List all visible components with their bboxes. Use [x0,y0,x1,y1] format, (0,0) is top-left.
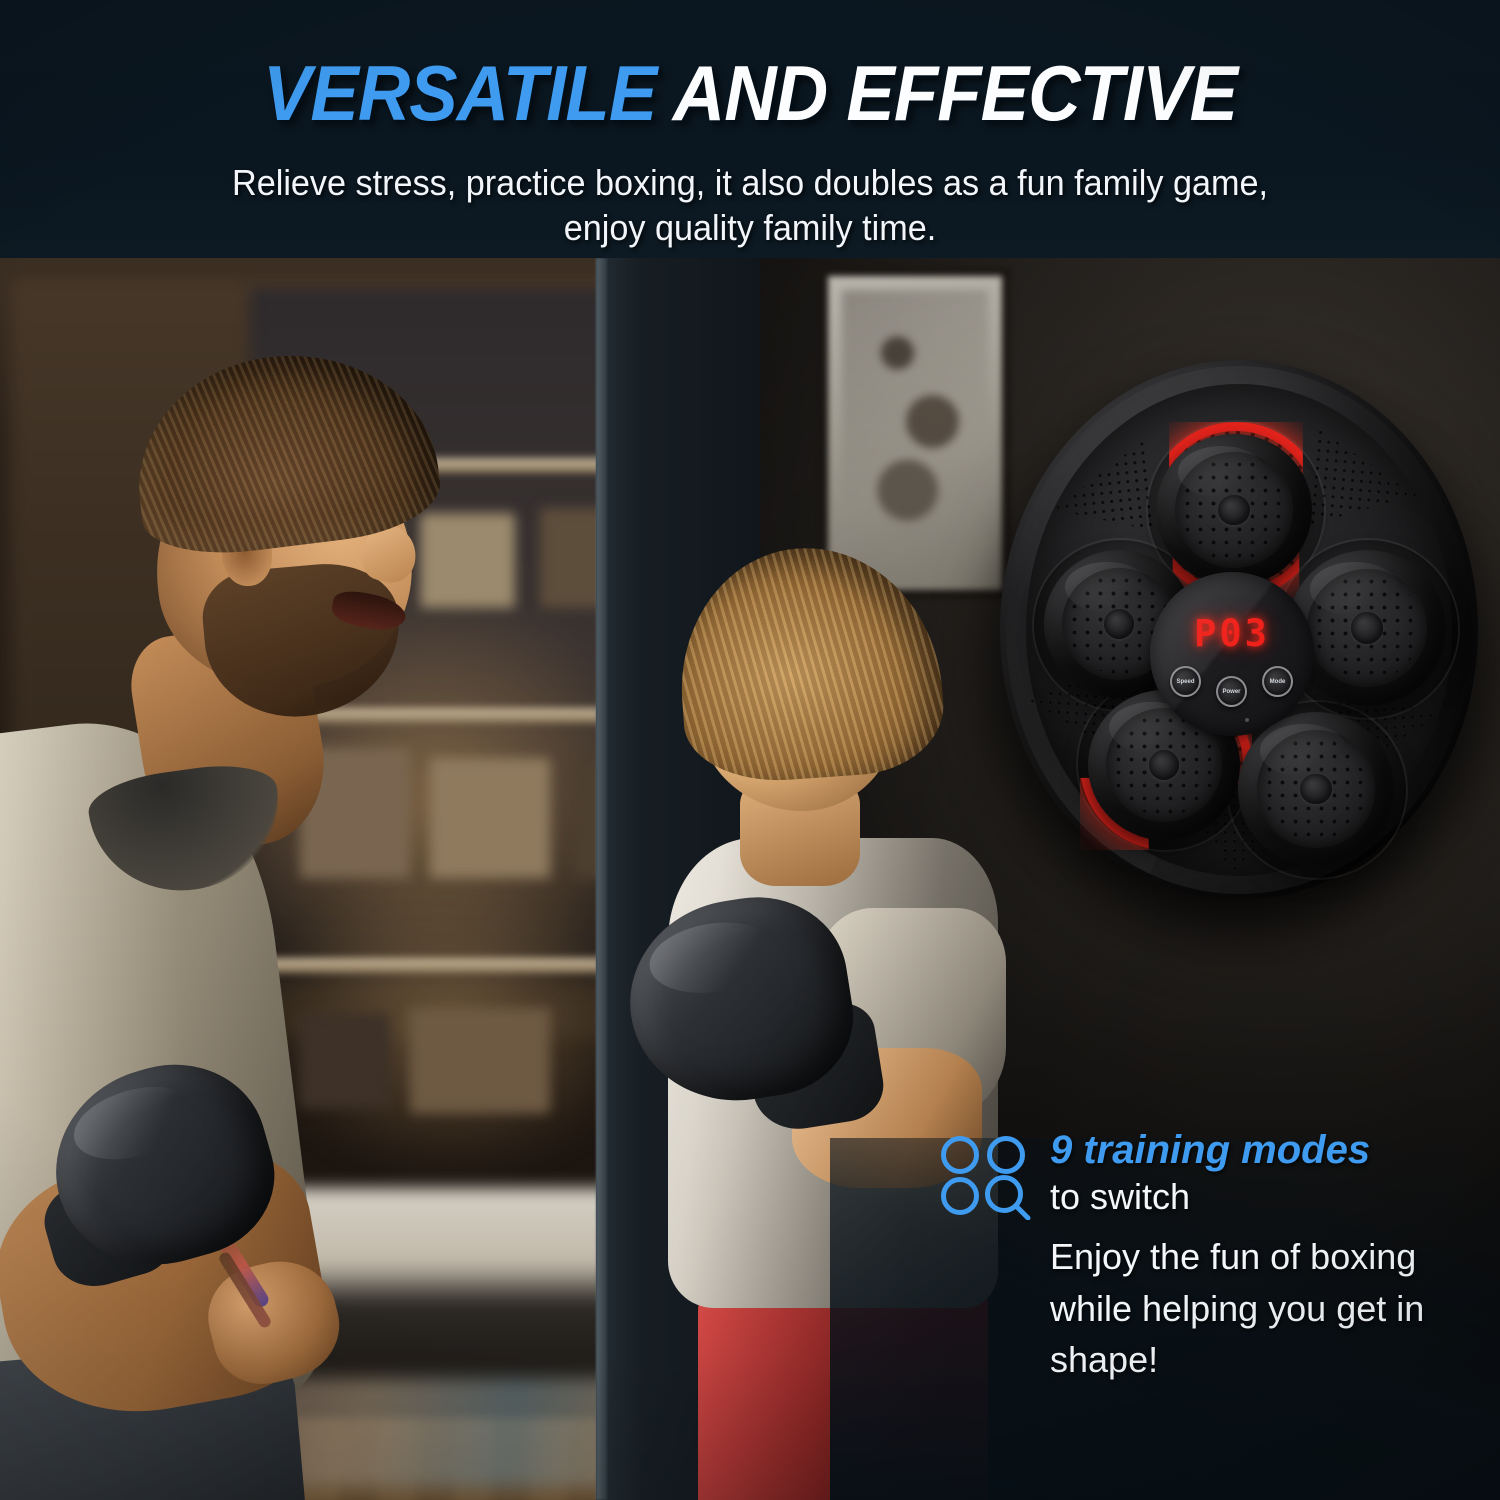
pad-highlight [1178,446,1265,498]
header-band: VERSATILE AND EFFECTIVE Relieve stress, … [0,0,1500,258]
man-figure [0,298,580,1500]
feature-subheading: to switch [1050,1176,1458,1217]
led-display: P03 [1150,612,1314,656]
subtitle-line-2: enjoy quality family time. [38,205,1463,250]
product-marketing-banner: P03 Speed Power Mode VERSATILE AND EFFEC… [0,0,1500,1500]
target-pad-top[interactable] [1156,434,1312,586]
feature-heading: 9 training modes [1050,1128,1458,1172]
indicator-pin [1245,718,1249,722]
pad-center-hub [1300,774,1331,805]
wall-divider-edge [596,258,607,1500]
pad-center-hub [1351,612,1383,643]
headline-main-text: AND EFFECTIVE [673,49,1237,137]
boy-hair [672,539,947,787]
control-panel[interactable]: P03 Speed Power Mode [1150,572,1314,736]
headline-accent-text: VERSATILE [263,49,673,137]
pad-highlight [1065,562,1149,612]
pad-highlight [1310,562,1398,615]
subtitle-line-1: Relieve stress, practice boxing, it also… [232,162,1268,203]
feature-callout: 9 training modes to switch Enjoy the fun… [938,1128,1458,1428]
four-circles-modes-icon [938,1134,1034,1220]
speed-button[interactable]: Speed [1170,666,1201,697]
music-boxing-machine[interactable]: P03 Speed Power Mode [1000,360,1478,920]
control-button-row: Speed Power Mode [1150,664,1314,710]
pad-highlight [1260,724,1347,776]
page-subtitle: Relieve stress, practice boxing, it also… [38,160,1463,251]
page-title: VERSATILE AND EFFECTIVE [53,54,1448,132]
pad-center-hub [1104,609,1134,639]
pad-center-hub [1218,495,1249,525]
feature-body-text: Enjoy the fun of boxing while helping yo… [1050,1231,1450,1384]
pad-center-hub [1149,750,1179,780]
mode-button[interactable]: Mode [1262,666,1293,697]
power-button[interactable]: Power [1216,676,1247,707]
feature-text-block: 9 training modes to switch Enjoy the fun… [1050,1128,1458,1385]
